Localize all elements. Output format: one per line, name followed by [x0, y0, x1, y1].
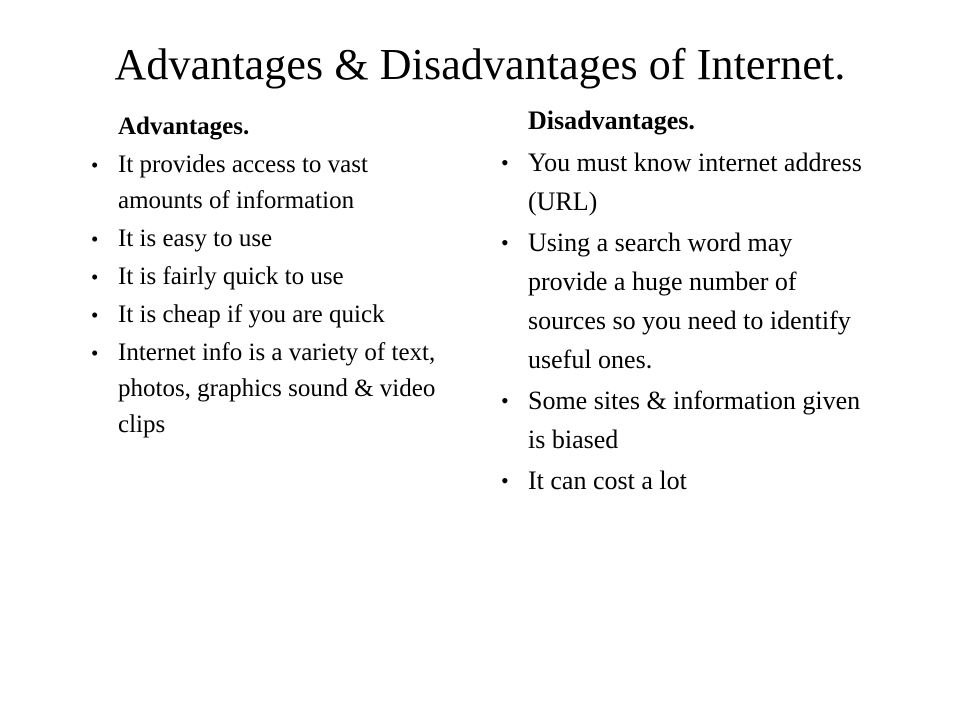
- list-item: • It is easy to use: [88, 221, 450, 257]
- bullet-icon: •: [91, 221, 105, 257]
- column-disadvantages: Disadvantages. • You must know internet …: [498, 104, 870, 502]
- column-heading-advantages: Advantages.: [88, 104, 450, 142]
- two-column-body: Advantages. • It provides access to vast…: [0, 104, 960, 664]
- list-item-text: It provides access to vast amounts of in…: [118, 147, 450, 219]
- disadvantages-bullet-list: • You must know internet address (URL) •…: [498, 143, 870, 500]
- advantages-bullet-list: • It provides access to vast amounts of …: [88, 147, 450, 443]
- slide: Advantages & Disadvantages of Internet. …: [0, 0, 960, 720]
- list-item-text: It can cost a lot: [528, 461, 870, 500]
- list-item: • It can cost a lot: [498, 461, 870, 500]
- page-title: Advantages & Disadvantages of Internet.: [0, 39, 960, 91]
- list-item: • It provides access to vast amounts of …: [88, 147, 450, 219]
- column-heading-disadvantages: Disadvantages.: [498, 104, 870, 136]
- bullet-icon: •: [501, 223, 515, 262]
- list-item-text: Some sites & information given is biased: [528, 381, 870, 459]
- list-item-text: Internet info is a variety of text, phot…: [118, 335, 450, 443]
- list-item-text: It is cheap if you are quick: [118, 297, 450, 333]
- bullet-icon: •: [91, 297, 105, 333]
- list-item-text: Using a search word may provide a huge n…: [528, 223, 870, 379]
- list-item-text: It is fairly quick to use: [118, 259, 450, 295]
- list-item-text: You must know internet address (URL): [528, 143, 870, 221]
- bullet-icon: •: [91, 147, 105, 183]
- bullet-icon: •: [91, 335, 105, 371]
- bullet-icon: •: [501, 461, 515, 500]
- list-item: • Some sites & information given is bias…: [498, 381, 870, 459]
- list-item: • It is fairly quick to use: [88, 259, 450, 295]
- bullet-icon: •: [501, 381, 515, 420]
- bullet-icon: •: [501, 143, 515, 182]
- list-item-text: It is easy to use: [118, 221, 450, 257]
- list-item: • It is cheap if you are quick: [88, 297, 450, 333]
- list-item: • Using a search word may provide a huge…: [498, 223, 870, 379]
- bullet-icon: •: [91, 259, 105, 295]
- list-item: • You must know internet address (URL): [498, 143, 870, 221]
- list-item: • Internet info is a variety of text, ph…: [88, 335, 450, 443]
- column-advantages: Advantages. • It provides access to vast…: [88, 104, 450, 445]
